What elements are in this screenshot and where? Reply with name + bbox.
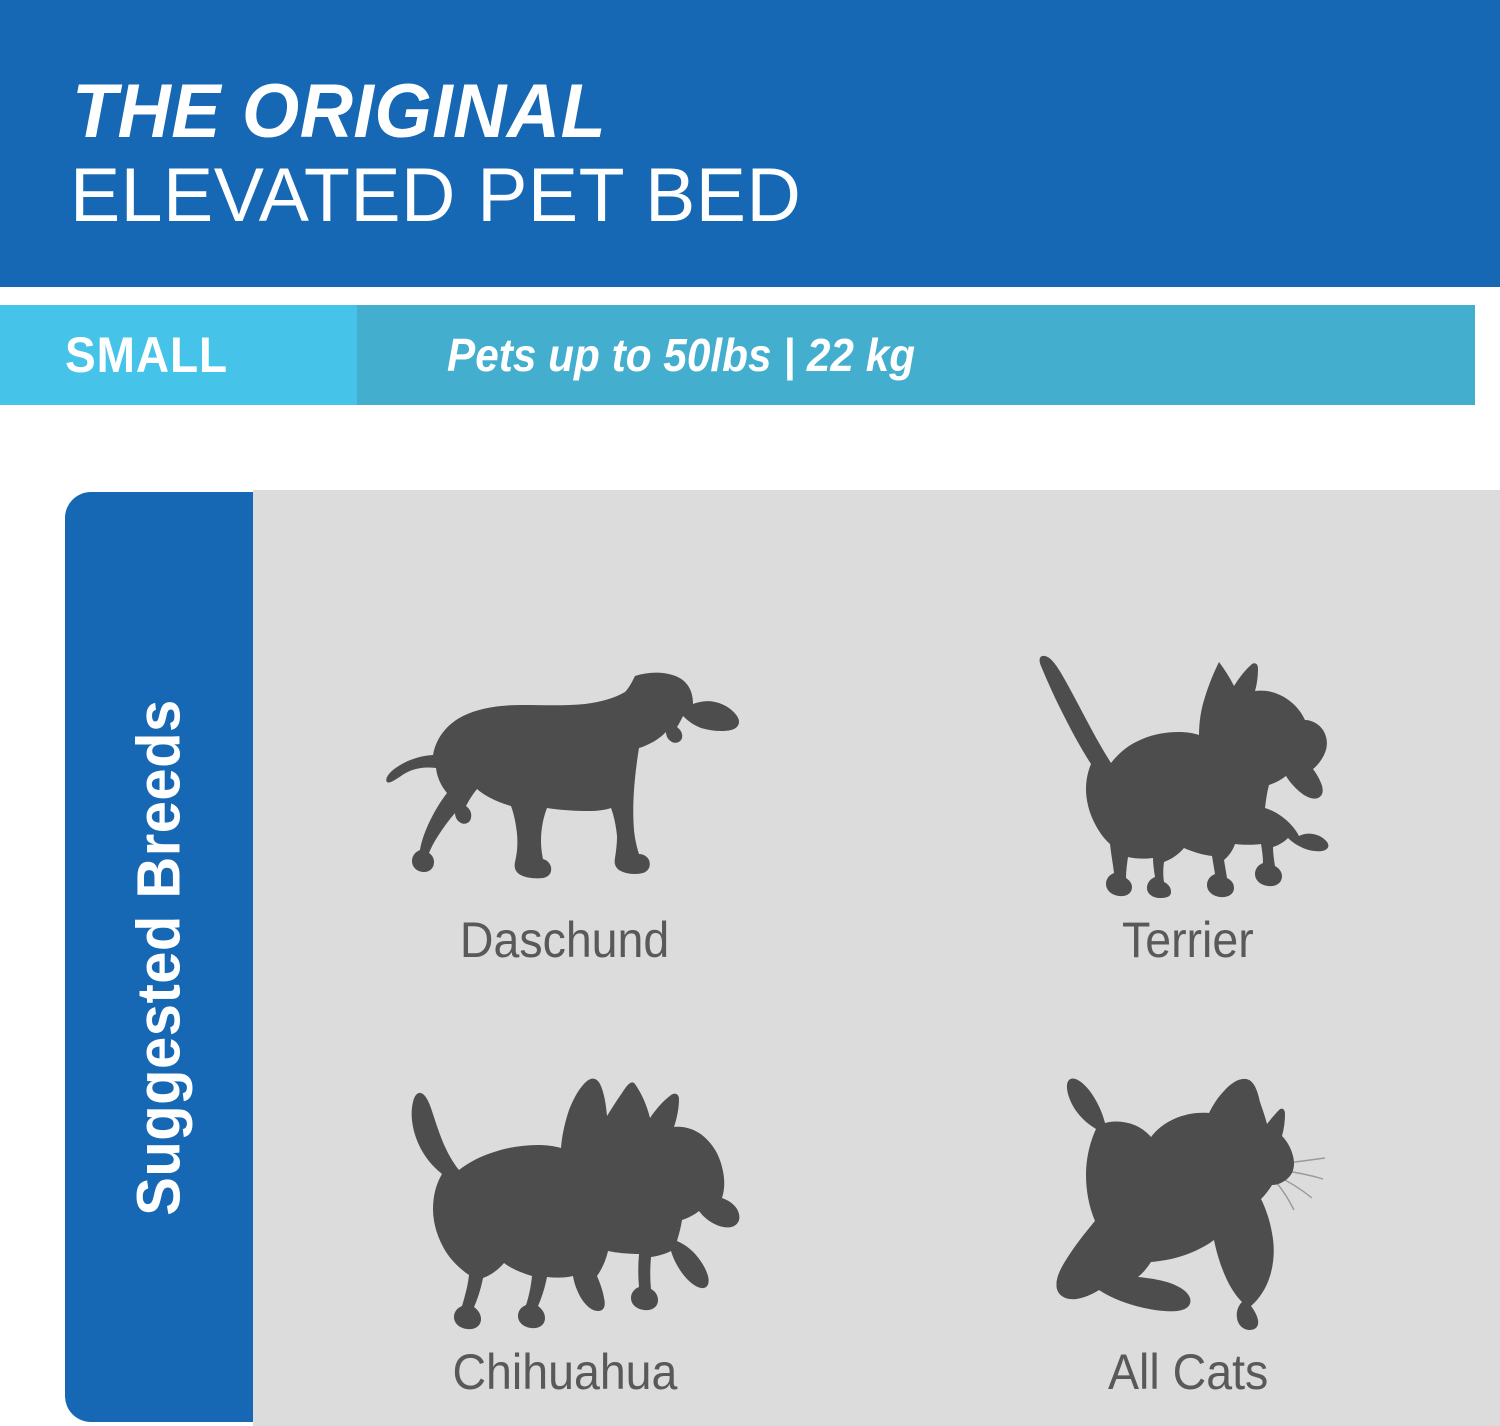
breed-item-terrier: Terrier [877,490,1500,966]
breed-item-all-cats: All Cats [877,966,1500,1426]
dachshund-silhouette-icon [253,490,877,898]
product-title-line-2: ELEVATED PET BED [70,158,801,234]
header-banner: THE ORIGINAL ELEVATED PET BED [0,0,1500,287]
size-weight-text: Pets up to 50lbs | 22 kg [447,332,915,378]
chihuahua-silhouette-icon [253,966,877,1336]
size-weight-strip: Pets up to 50lbs | 22 kg [357,305,1475,405]
terrier-silhouette-icon [877,490,1500,898]
suggested-breeds-sidebar: Suggested Breeds [65,492,253,1422]
pet-bed-size-infographic: THE ORIGINAL ELEVATED PET BED SMALL Pets… [0,0,1500,1426]
suggested-breeds-title-wrap: Suggested Breeds [65,492,253,1422]
size-badge-label: SMALL [65,330,228,380]
suggested-breeds-title: Suggested Breeds [129,699,190,1215]
breed-item-daschund: Daschund [253,490,877,966]
breed-grid: Daschund Terrier Chihuahua [253,490,1500,1426]
size-banner: SMALL Pets up to 50lbs | 22 kg [0,305,1475,405]
size-badge: SMALL [0,305,357,405]
product-title-line-1: THE ORIGINAL [72,74,606,150]
breed-label: Daschund [460,914,669,966]
breed-label: Chihuahua [452,1346,677,1398]
breed-label: Terrier [1122,914,1254,966]
cat-silhouette-icon [877,966,1500,1336]
breed-item-chihuahua: Chihuahua [253,966,877,1426]
breed-label: All Cats [1108,1346,1268,1398]
suggested-breeds-panel: Daschund Terrier Chihuahua [253,490,1500,1426]
